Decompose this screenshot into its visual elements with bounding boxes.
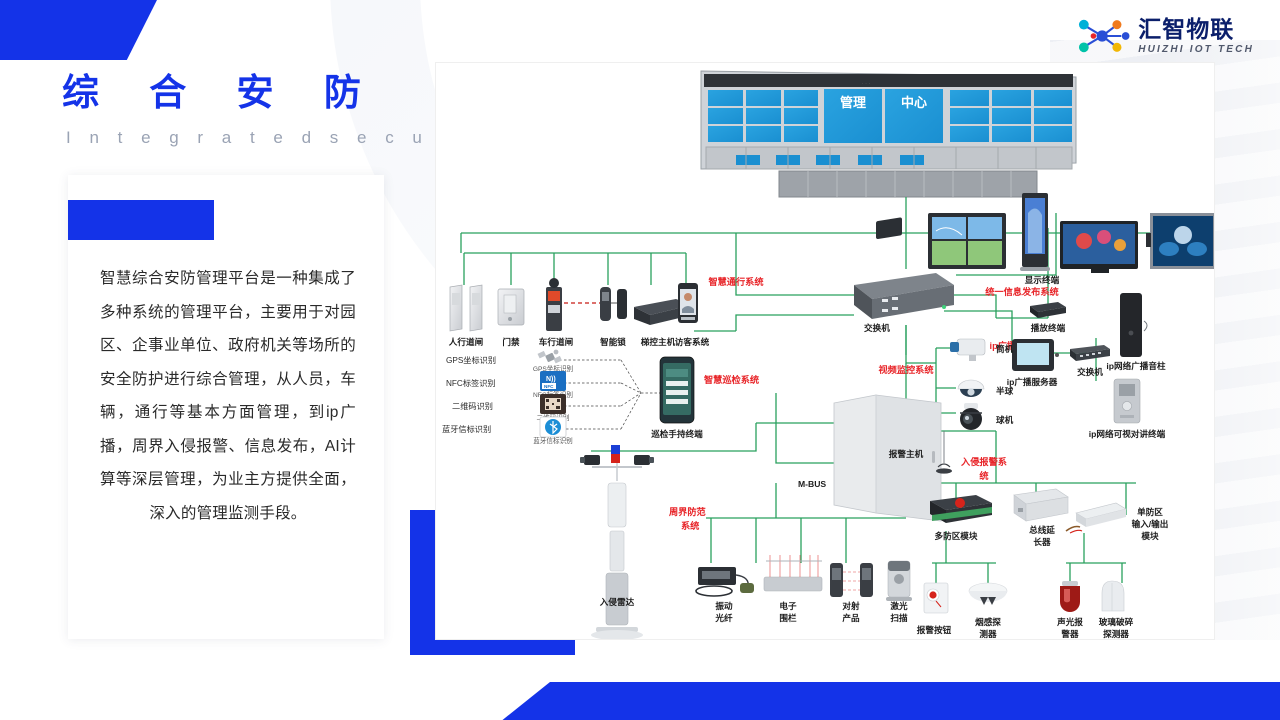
ptz-camera-icon (960, 403, 982, 430)
electric-fence-icon (764, 555, 822, 591)
architecture-diagram: . . . 管理 中心 (435, 62, 1215, 640)
label-alarm-module-2b: 输入/输出 (1132, 518, 1169, 529)
blue-corner-bottom-right (490, 682, 1280, 720)
label-system-perimeter-1: 周界防范 (669, 506, 707, 517)
control-room-desks (706, 147, 1072, 169)
qr-code-icon (540, 394, 566, 414)
slide-root: 汇智物联 HUIZHI IOT TECH 综 合 安 防 I n t e g r… (0, 0, 1280, 720)
nfc-tag-icon: N)) NFC (540, 371, 566, 391)
beam-detector-icon (830, 563, 873, 597)
alarm-detector-group: 报警按钮 烟感探 测器 声光报 警器 玻璃破碎 探测 (917, 581, 1134, 639)
sub-patrol-input-3: 蓝牙信标识别 (533, 436, 573, 445)
sounder-beacon-icon (1060, 581, 1080, 612)
label-patrol-input-3: 蓝牙信标识别 (442, 424, 491, 434)
satellite-icon (538, 350, 562, 364)
label-alarm-module-1b: 长器 (1033, 536, 1051, 547)
panic-button-icon (924, 583, 948, 613)
label-detector-2a: 声光报 (1056, 616, 1083, 627)
single-zone-io-module-icon (1066, 503, 1126, 533)
display-terminal-icon (928, 213, 1006, 269)
label-patrol-terminal: 巡检手持终端 (651, 428, 703, 439)
display-terminal-tv-icon (1060, 221, 1138, 273)
handheld-terminal-icon (660, 357, 694, 423)
laser-scanner-icon (886, 561, 912, 601)
architecture-diagram-svg: . . . 管理 中心 (436, 63, 1215, 640)
ip-broadcast-group: ip广播服务器 交换机 ip网络广播音柱 (1007, 293, 1166, 439)
label-info-device-1: 播放终端 (1031, 322, 1066, 333)
label-system-info: 统一信息发布系统 (985, 286, 1059, 297)
control-center-group: . . . 管理 中心 (701, 71, 1076, 197)
ip-broadcast-server-icon (1012, 339, 1059, 371)
label-info-device-0: 显示终端 (1025, 274, 1060, 285)
logo-name-en: HUIZHI IOT TECH (1138, 45, 1254, 55)
visitor-kiosk-icon (678, 283, 698, 323)
display-terminal-kiosk-icon (1020, 193, 1050, 271)
label-perimeter-1a: 振动 (715, 600, 733, 611)
label-perimeter-2b: 围栏 (779, 612, 797, 623)
bluetooth-beacon-icon (540, 417, 566, 437)
label-alarm-module-1a: 总线延 (1029, 524, 1055, 535)
logo-name-cn: 汇智物联 (1138, 18, 1254, 41)
label-perimeter-4b: 扫描 (890, 612, 908, 623)
label-detector-3a: 玻璃破碎 (1099, 616, 1134, 627)
pedestrian-turnstile-icon (450, 285, 482, 331)
label-camera-0: 筒机 (996, 343, 1014, 354)
label-perimeter-1b: 光纤 (714, 612, 733, 623)
label-alarm-module-0: 多防区模块 (935, 530, 978, 541)
switch-icon (1070, 345, 1110, 361)
label-broadcast-device-2: ip网络广播音柱 (1106, 360, 1166, 371)
label-broadcast-device-1: 交换机 (1077, 366, 1103, 377)
media-player-box-icon (1030, 302, 1066, 318)
smart-lock-icon (600, 287, 627, 321)
video-wall-left (708, 90, 818, 142)
video-wall-right (950, 90, 1072, 142)
label-system-access: 智慧通行系统 (708, 276, 763, 287)
label-system-intrusion-2: 统 (979, 470, 988, 481)
bus-extender-icon (1014, 489, 1068, 521)
label-system-cctv: 视频监控系统 (878, 364, 933, 375)
brand-logo: 汇智物联 HUIZHI IOT TECH (1076, 16, 1254, 56)
label-perimeter-0: 入侵雷达 (600, 596, 635, 607)
label-perimeter-3a: 对射 (842, 600, 860, 611)
label-detector-2b: 警器 (1061, 628, 1079, 639)
label-alarm-host: 报警主机 (889, 448, 924, 459)
smoke-detector-icon (969, 583, 1007, 605)
info-publishing-group: 显示终端 播放终端 (928, 193, 1215, 333)
label-detector-0: 报警按钮 (917, 624, 952, 635)
label-system-perimeter-2: 系统 (681, 520, 699, 531)
wall-header-stripe: . . . (861, 79, 870, 86)
alarm-module-group: 多防区模块 总线延 长器 单防区 输入/输出 模块 (930, 489, 1168, 547)
intrusion-radar-icon (580, 445, 654, 640)
access-device-group: 人行道闸 门禁 车行道闸 (449, 278, 710, 347)
label-patrol-input-2: 二维码识别 (452, 401, 493, 411)
label-broadcast-device-3: ip网络可视对讲终端 (1089, 428, 1166, 439)
label-perimeter-4a: 激光 (890, 600, 908, 611)
label-detector-1a: 烟感探 (975, 616, 1001, 627)
camera-group: 筒机 半球 球机 (950, 339, 1014, 430)
vibration-fiber-icon (696, 567, 754, 596)
svg-text:N)): N)) (546, 376, 556, 383)
label-system-patrol: 智慧巡检系统 (704, 374, 759, 385)
label-alarm-module-2a: 单防区 (1137, 506, 1163, 517)
video-intercom-terminal-icon (1114, 379, 1140, 423)
label-access-3: 智能锁 (600, 336, 626, 347)
vehicle-barrier-gate-icon (546, 278, 601, 331)
svg-text:NFC: NFC (544, 384, 554, 389)
label-patrol-input-0: GPS坐标识别 (446, 355, 496, 365)
label-perimeter-2a: 电子 (779, 600, 797, 611)
page-title: 综 合 安 防 (62, 62, 381, 116)
blue-corner-top-left (0, 0, 160, 60)
label-access-0: 人行道闸 (449, 336, 483, 347)
dome-camera-icon (958, 380, 984, 397)
label-perimeter-3b: 产品 (842, 612, 860, 623)
label-access-2: 车行道闸 (539, 336, 573, 347)
label-mbus: M-BUS (798, 479, 826, 489)
label-access-5: 访客系统 (675, 336, 710, 347)
door-access-reader-icon (498, 289, 524, 325)
label-core-switch: 交换机 (864, 322, 890, 333)
description-text: 智慧综合安防管理平台是一种集成了多种系统的管理平台，主要用于对园区、企事业单位、… (100, 262, 356, 530)
patrol-system-group: GPS坐标识别 GPS坐标识别 NFC标签识别 N)) NFC NFC标签识别 … (442, 350, 759, 445)
label-camera-1: 半球 (996, 385, 1014, 396)
accent-bar (68, 200, 214, 240)
label-patrol-input-1: NFC标签识别 (446, 378, 496, 388)
label-alarm-module-2c: 模块 (1141, 530, 1159, 541)
label-access-4: 梯控主机 (641, 336, 676, 347)
control-center-label-2: 中心 (901, 95, 927, 110)
label-camera-2: 球机 (996, 414, 1014, 425)
label-system-intrusion-1: 入侵报警系 (961, 456, 1007, 467)
led-display-panel-icon (1146, 213, 1215, 269)
bullet-camera-icon (950, 339, 985, 361)
label-detector-3b: 探测器 (1103, 628, 1129, 639)
label-broadcast-device-0: ip广播服务器 (1007, 376, 1058, 387)
label-detector-1b: 测器 (979, 628, 997, 639)
glass-break-detector-icon (1102, 581, 1124, 611)
control-center-label-1: 管理 (840, 95, 866, 110)
network-nodes-logo-icon (1076, 16, 1130, 56)
operator-console (779, 171, 1037, 197)
patrol-dashed-links (564, 360, 661, 429)
label-access-1: 门禁 (502, 336, 520, 347)
ip-speaker-column-icon (1120, 293, 1147, 357)
